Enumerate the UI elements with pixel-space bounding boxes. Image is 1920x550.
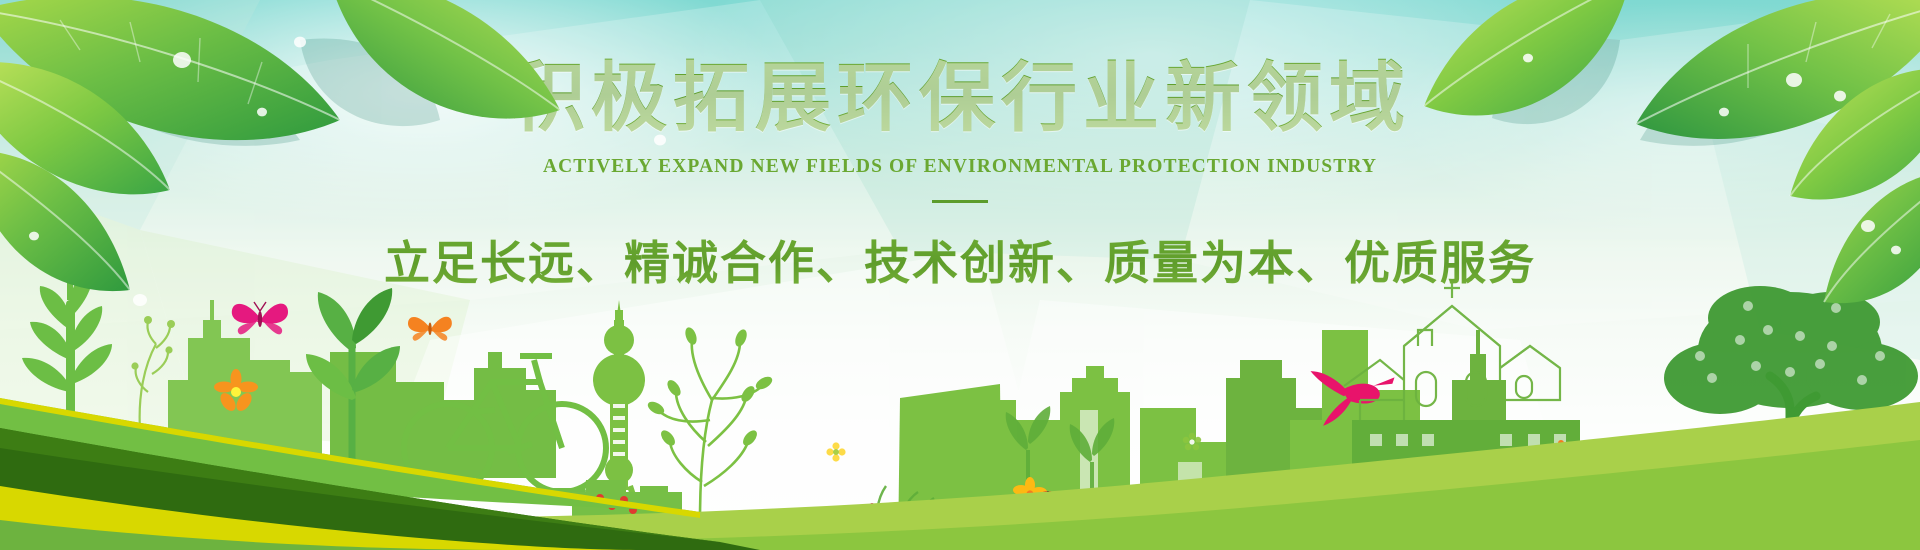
page-slogan: 立足长远、精诚合作、技术创新、质量为本、优质服务 (0, 227, 1920, 293)
divider (932, 200, 988, 203)
eco-banner: 积极拓展环保行业新领域 ACTIVELY EXPAND NEW FIELDS O… (0, 0, 1920, 550)
page-title: 积极拓展环保行业新领域 (0, 58, 1920, 140)
headline-block: 积极拓展环保行业新领域 ACTIVELY EXPAND NEW FIELDS O… (0, 0, 1920, 293)
page-subtitle: ACTIVELY EXPAND NEW FIELDS OF ENVIRONMEN… (0, 156, 1920, 178)
